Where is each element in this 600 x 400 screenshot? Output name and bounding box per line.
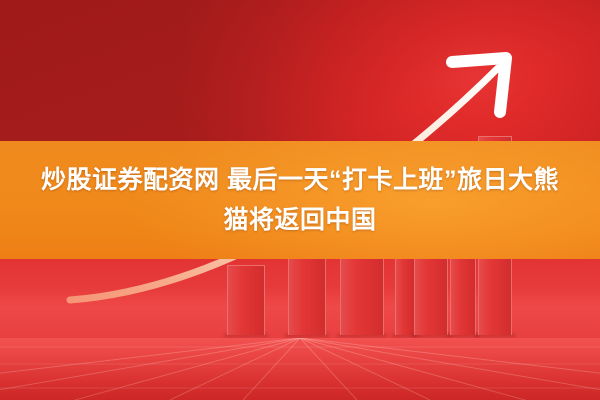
headline-line-1: 炒股证券配资网 最后一天“打卡上班”旅日大熊 [41,160,559,200]
perspective-floor [0,338,600,400]
chart-bar [227,265,265,335]
headline-line-2: 猫将返回中国 [223,200,376,240]
headline-text: 炒股证券配资网 最后一天“打卡上班”旅日大熊 猫将返回中国 [0,141,600,259]
floor-grid-lines [0,338,600,400]
banner-image: 炒股证券配资网 最后一天“打卡上班”旅日大熊 猫将返回中国 [0,0,600,400]
